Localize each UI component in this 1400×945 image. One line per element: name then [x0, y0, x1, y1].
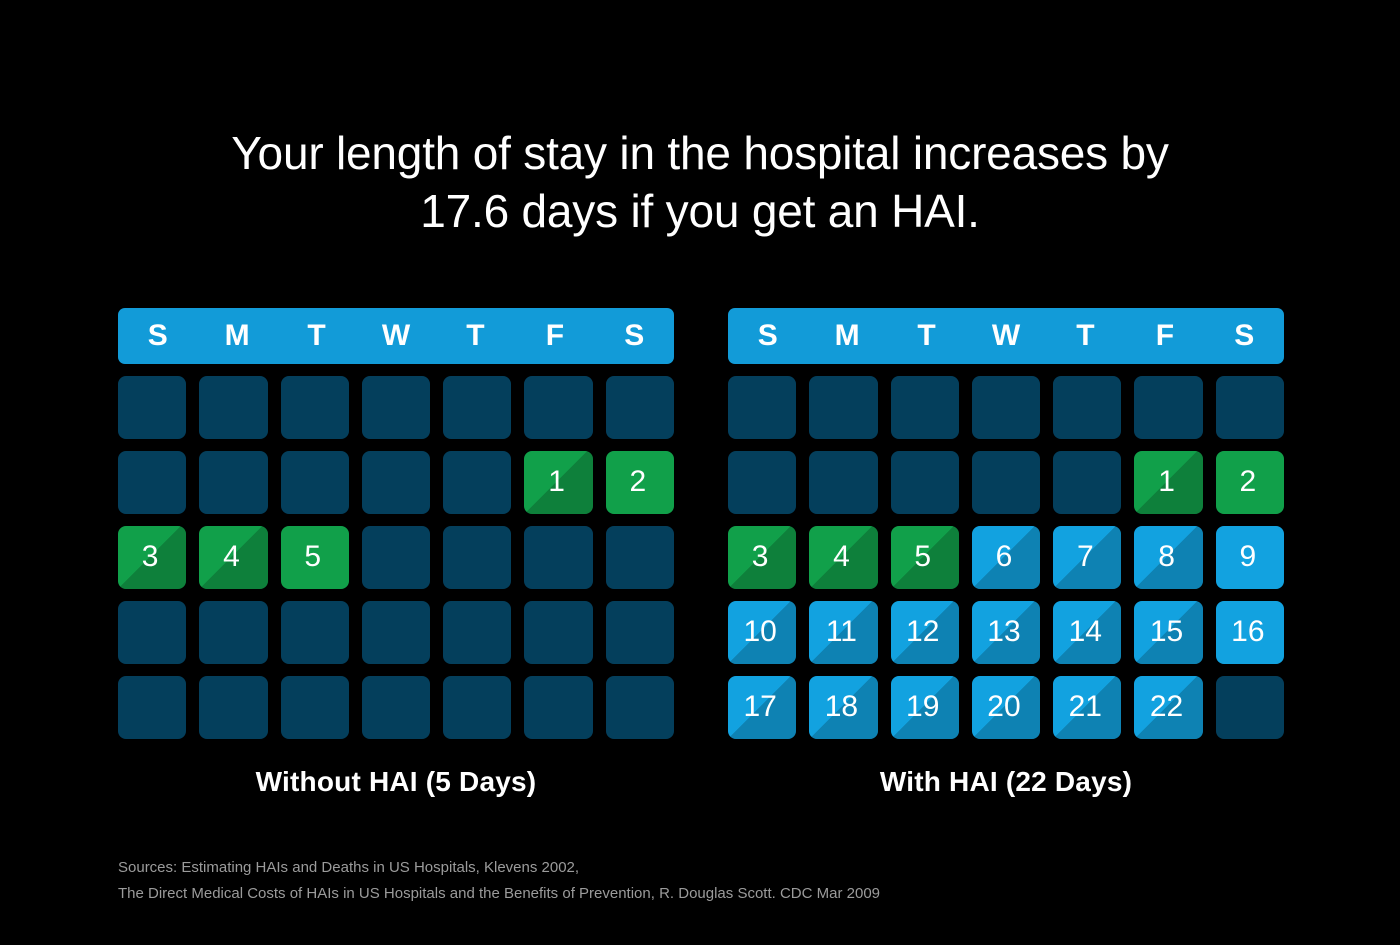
calendar-cell-empty [524, 526, 592, 589]
calendar-cell-day: 5 [281, 526, 349, 589]
day-of-week-label: S [1205, 321, 1284, 351]
calendar-day-header-row: SMTWTFS [728, 308, 1284, 364]
day-number: 19 [891, 676, 959, 739]
calendar-cell-empty [199, 376, 267, 439]
calendar-cell-empty [118, 676, 186, 739]
calendar-cell-day: 3 [728, 526, 796, 589]
day-of-week-label: F [1125, 321, 1204, 351]
day-number: 18 [809, 676, 877, 739]
sources-note: Sources: Estimating HAIs and Deaths in U… [118, 855, 880, 907]
calendar-cell-empty [809, 451, 877, 514]
day-number: 4 [199, 526, 267, 589]
calendar-cell-empty [362, 676, 430, 739]
caption-with-hai: With HAI (22 Days) [728, 766, 1284, 798]
calendar-cell-empty [524, 376, 592, 439]
calendar-cell-empty [606, 601, 674, 664]
calendar-cell-empty [728, 376, 796, 439]
day-number: 9 [1216, 526, 1284, 589]
day-number: 12 [891, 601, 959, 664]
calendar-cell-day: 13 [972, 601, 1040, 664]
calendar-cell-empty [1216, 676, 1284, 739]
calendar-cell-empty [728, 451, 796, 514]
calendar-cell-day: 3 [118, 526, 186, 589]
calendar-cell-day: 8 [1134, 526, 1202, 589]
day-number: 21 [1053, 676, 1121, 739]
day-number: 3 [728, 526, 796, 589]
calendar-cell-empty [606, 376, 674, 439]
day-of-week-label: W [356, 321, 435, 351]
calendar-cell-empty [199, 601, 267, 664]
calendar-cell-empty [524, 601, 592, 664]
day-number: 17 [728, 676, 796, 739]
calendar-cell-day: 18 [809, 676, 877, 739]
day-of-week-label: T [436, 321, 515, 351]
calendar-cell-empty [281, 451, 349, 514]
day-of-week-label: F [515, 321, 594, 351]
day-of-week-label: M [197, 321, 276, 351]
calendar-cell-day: 19 [891, 676, 959, 739]
calendar-cell-empty [606, 526, 674, 589]
calendar-cell-day: 12 [891, 601, 959, 664]
calendar-cell-empty [118, 601, 186, 664]
calendar-cell-empty [809, 376, 877, 439]
calendar-cell-day: 14 [1053, 601, 1121, 664]
calendar-cell-day: 2 [606, 451, 674, 514]
calendar-cell-empty [1053, 451, 1121, 514]
day-number: 4 [809, 526, 877, 589]
calendar-cell-empty [443, 676, 511, 739]
day-of-week-label: T [277, 321, 356, 351]
calendar-without-hai: SMTWTFS 12345 [118, 308, 674, 739]
calendar-cell-empty [118, 451, 186, 514]
calendar-cell-empty [972, 376, 1040, 439]
calendar-cell-empty [199, 451, 267, 514]
day-of-week-label: S [118, 321, 197, 351]
calendar-cell-day: 11 [809, 601, 877, 664]
calendar-cell-empty [443, 451, 511, 514]
calendar-cell-empty [1134, 376, 1202, 439]
day-of-week-label: W [966, 321, 1045, 351]
day-of-week-label: S [595, 321, 674, 351]
calendar-cell-empty [1053, 376, 1121, 439]
calendar-cell-empty [891, 376, 959, 439]
calendar-cell-day: 4 [199, 526, 267, 589]
calendar-cell-empty [362, 601, 430, 664]
calendar-cell-empty [972, 451, 1040, 514]
day-number: 22 [1134, 676, 1202, 739]
day-number: 2 [606, 451, 674, 514]
day-number: 2 [1216, 451, 1284, 514]
calendar-cell-empty [891, 451, 959, 514]
day-number: 3 [118, 526, 186, 589]
day-of-week-label: T [887, 321, 966, 351]
day-number: 8 [1134, 526, 1202, 589]
day-number: 15 [1134, 601, 1202, 664]
calendar-cell-day: 6 [972, 526, 1040, 589]
calendar-cell-day: 16 [1216, 601, 1284, 664]
page-title: Your length of stay in the hospital incr… [0, 124, 1400, 240]
calendar-cell-empty [606, 676, 674, 739]
calendar-cell-empty [443, 526, 511, 589]
calendar-cell-day: 5 [891, 526, 959, 589]
calendar-cell-day: 15 [1134, 601, 1202, 664]
calendar-with-hai: SMTWTFS 12345678910111213141516171819202… [728, 308, 1284, 739]
calendar-cell-empty [362, 526, 430, 589]
calendar-cell-empty [118, 376, 186, 439]
calendar-cell-empty [1216, 376, 1284, 439]
calendar-cell-empty [362, 376, 430, 439]
day-number: 11 [809, 601, 877, 664]
day-number: 5 [281, 526, 349, 589]
calendar-cell-day: 10 [728, 601, 796, 664]
calendar-cell-empty [524, 676, 592, 739]
day-number: 13 [972, 601, 1040, 664]
calendar-cell-empty [362, 451, 430, 514]
day-of-week-label: M [807, 321, 886, 351]
day-of-week-label: T [1046, 321, 1125, 351]
day-number: 14 [1053, 601, 1121, 664]
calendar-cell-day: 7 [1053, 526, 1121, 589]
calendar-cell-empty [281, 676, 349, 739]
calendar-cell-day: 1 [524, 451, 592, 514]
calendar-cell-empty [281, 376, 349, 439]
calendar-day-header-row: SMTWTFS [118, 308, 674, 364]
day-number: 10 [728, 601, 796, 664]
day-of-week-label: S [728, 321, 807, 351]
calendar-cell-day: 4 [809, 526, 877, 589]
calendar-cell-day: 2 [1216, 451, 1284, 514]
day-number: 1 [1134, 451, 1202, 514]
calendar-grid: 12345 [118, 376, 674, 739]
caption-without-hai: Without HAI (5 Days) [118, 766, 674, 798]
calendar-cell-day: 21 [1053, 676, 1121, 739]
calendar-cell-day: 17 [728, 676, 796, 739]
calendar-cell-empty [281, 601, 349, 664]
calendar-cell-day: 1 [1134, 451, 1202, 514]
day-number: 1 [524, 451, 592, 514]
day-number: 20 [972, 676, 1040, 739]
day-number: 5 [891, 526, 959, 589]
calendar-cell-day: 22 [1134, 676, 1202, 739]
calendar-cell-empty [443, 376, 511, 439]
day-number: 16 [1216, 601, 1284, 664]
day-number: 7 [1053, 526, 1121, 589]
calendar-cell-day: 9 [1216, 526, 1284, 589]
calendar-cell-empty [199, 676, 267, 739]
day-number: 6 [972, 526, 1040, 589]
calendar-cell-empty [443, 601, 511, 664]
calendar-cell-day: 20 [972, 676, 1040, 739]
calendar-grid: 12345678910111213141516171819202122 [728, 376, 1284, 739]
